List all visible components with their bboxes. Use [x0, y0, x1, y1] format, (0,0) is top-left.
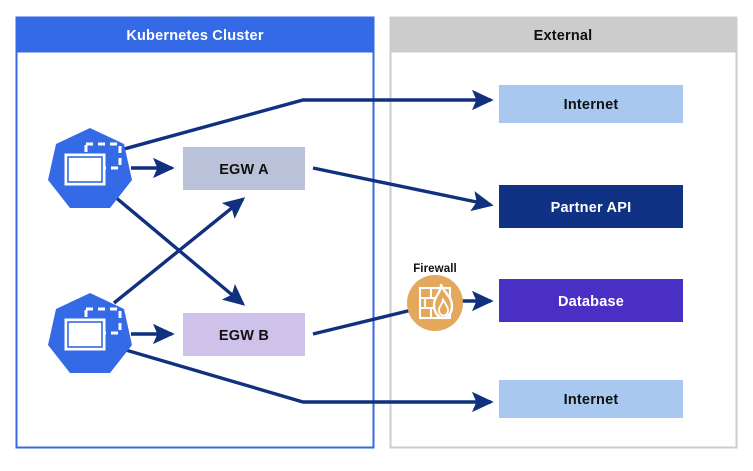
node-egw-a[interactable]: EGW A	[183, 147, 305, 190]
node-label-partner-api: Partner API	[551, 200, 632, 216]
node-internet-bottom[interactable]: Internet	[499, 380, 683, 418]
node-label-egw-a: EGW A	[219, 162, 269, 178]
node-label-internet-top: Internet	[564, 97, 619, 113]
kubernetes-pod-inner-icon	[68, 157, 102, 182]
panel-title-kubernetes: Kubernetes Cluster	[126, 28, 264, 44]
node-internet-top[interactable]: Internet	[499, 85, 683, 123]
node-egw-b[interactable]: EGW B	[183, 313, 305, 356]
node-firewall[interactable]: Firewall	[407, 263, 463, 331]
node-partner-api[interactable]: Partner API	[499, 185, 683, 228]
node-label-internet-bottom: Internet	[564, 392, 619, 408]
node-database[interactable]: Database	[499, 279, 683, 322]
network-diagram-svg: Kubernetes Cluster External	[0, 0, 753, 471]
panel-title-external: External	[534, 28, 593, 44]
panel-kubernetes-cluster: Kubernetes Cluster	[17, 18, 374, 448]
node-label-database: Database	[558, 294, 624, 310]
kubernetes-pod-inner-icon	[68, 322, 102, 347]
node-label-egw-b: EGW B	[219, 328, 269, 344]
firewall-label: Firewall	[413, 263, 457, 275]
diagram-canvas: Kubernetes Cluster External	[0, 0, 753, 471]
